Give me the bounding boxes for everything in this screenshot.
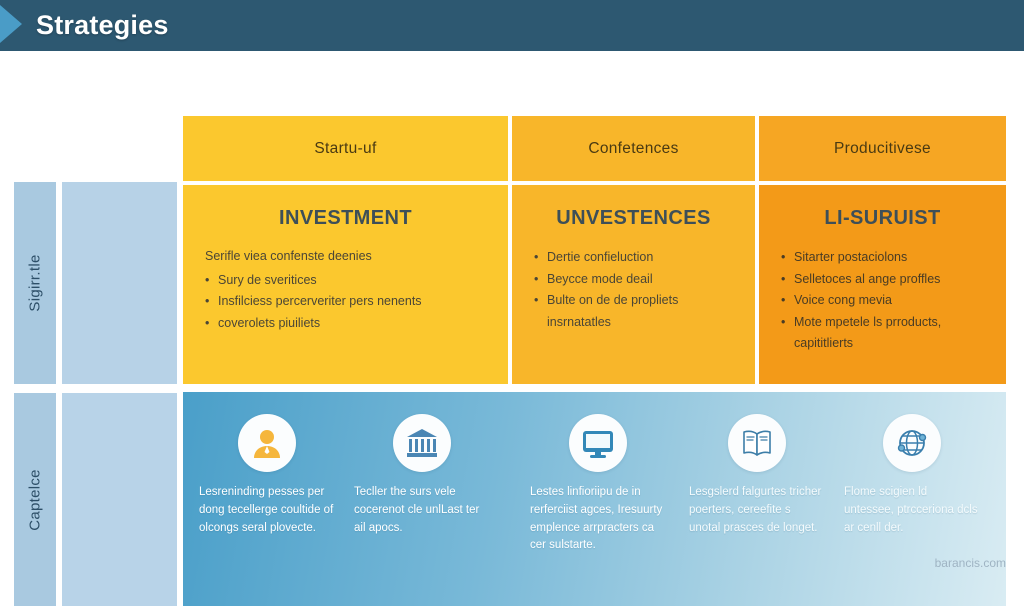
slide-header: Strategies [0,0,1024,51]
column-title-3: LI-SURUIST [781,207,984,230]
column-header-conferences[interactable]: Confetences [512,116,755,181]
column-bullets-2: Dertie confieluction Beycce mode deail B… [534,247,733,333]
monitor-display-icon [569,414,627,472]
open-book-icon [728,414,786,472]
row-spacer-cell-2 [62,393,177,606]
page-title: Strategies [36,10,169,41]
column-body-1: INVESTMENT Serifle viea confenste deenie… [183,185,508,384]
list-item: Mote mpetele ls prroducts, capititlierts [781,312,984,355]
row-label-cell-2: Captelce [14,393,56,606]
icon-caption-3: Lestes linfioriipu de in rerferciist agc… [530,484,666,555]
strategy-matrix: Sigirr.tle Captelce Startu-uf Confetence… [0,51,1024,576]
icon-caption-1: Lesreninding pesses per dong tecellerge … [199,484,335,537]
list-item: Sitarter postaciolons [781,247,984,269]
icon-cell-globe[interactable]: Flome scigien ld untessee, ptrcceriona d… [838,414,986,537]
list-item: Beycce mode deail [534,269,733,291]
icon-cell-monitor[interactable]: Lestes linfioriipu de in rerferciist agc… [524,414,672,555]
list-item: coverolets piuiliets [205,313,486,335]
slide-root: Strategies Sigirr.tle Captelce Startu-uf… [0,0,1024,576]
column-header-label-3: Producitivese [834,140,931,158]
globe-network-icon [883,414,941,472]
icon-band: Lesreninding pesses per dong tecellerge … [183,392,1006,606]
icon-cell-user[interactable]: Lesreninding pesses per dong tecellerge … [193,414,341,537]
list-item: Bulte on de de propliets insrnatatles [534,290,733,333]
chevron-right-icon [0,5,22,43]
column-header-startup[interactable]: Startu-uf [183,116,508,181]
icon-caption-2: Tecller the surs vele cocerenot cle unlL… [354,484,490,537]
list-item: Voice cong mevia [781,290,984,312]
column-header-label-1: Startu-uf [314,140,376,158]
list-item: Sury de sveritices [205,270,486,292]
row-label-cell-1: Sigirr.tle [14,182,56,384]
icon-cell-book[interactable]: Lesgslerd falgurtes tricher poerters, ce… [683,414,831,537]
column-bullets-1: Sury de sveritices Insfilciess percerver… [205,270,486,335]
row-label-text-1: Sigirr.tle [27,254,44,311]
row-label-text-2: Captelce [27,469,44,531]
icon-cell-bank[interactable]: Tecller the surs vele cocerenot cle unlL… [348,414,496,537]
list-item: Selletoces al ange proffles [781,269,984,291]
column-header-productives[interactable]: Producitivese [759,116,1006,181]
row-spacer-cell-1 [62,182,177,384]
icon-caption-4: Lesgslerd falgurtes tricher poerters, ce… [689,484,825,537]
column-header-label-2: Confetences [588,140,678,158]
column-title-1: INVESTMENT [205,207,486,230]
list-item: Dertie confieluction [534,247,733,269]
bank-institution-icon [393,414,451,472]
column-bullets-3: Sitarter postaciolons Selletoces al ange… [781,247,984,355]
column-title-2: UNVESTENCES [534,207,733,230]
list-item: Insfilciess percerveriter pers nenents [205,291,486,313]
icon-caption-5: Flome scigien ld untessee, ptrcceriona d… [844,484,980,537]
column-lead-1: Serifle viea confenste deenies [205,247,486,266]
user-person-icon [238,414,296,472]
watermark: barancis.com [935,556,1006,570]
column-body-3: LI-SURUIST Sitarter postaciolons Selleto… [759,185,1006,384]
column-body-2: UNVESTENCES Dertie confieluction Beycce … [512,185,755,384]
